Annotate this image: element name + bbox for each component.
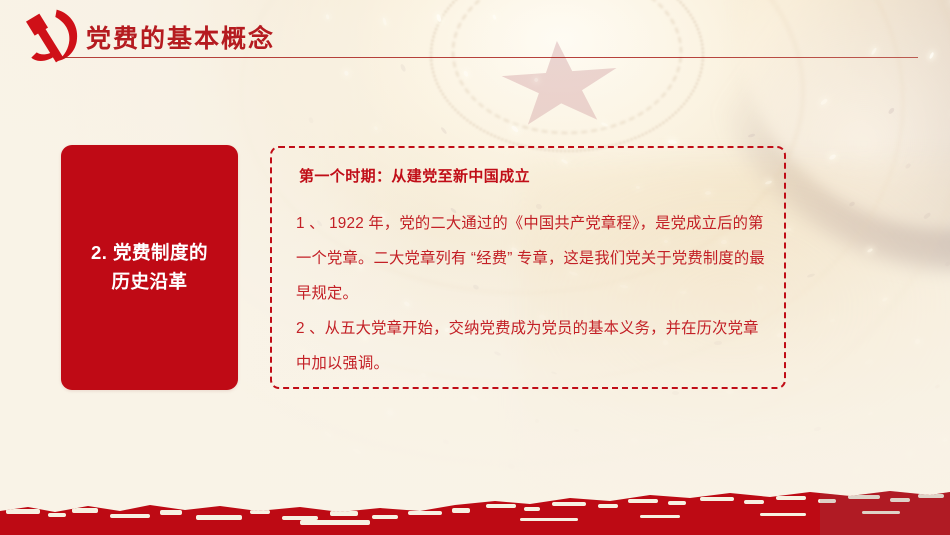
- content-paragraph-2: 2 、从五大党章开始，交纳党费成为党员的基本义务，并在历次党章中加以强调。: [296, 311, 768, 381]
- content-paragraph-1: 1 、 1922 年，党的二大通过的《中国共产党章程》，是党成立后的第一个党章。…: [296, 206, 768, 311]
- page-title: 党费的基本概念: [86, 19, 275, 55]
- red-brush-strip: [0, 471, 950, 535]
- content-heading: 第一个时期：从建党至新中国成立: [299, 165, 530, 186]
- content-body: 1 、 1922 年，党的二大通过的《中国共产党章程》，是党成立后的第一个党章。…: [296, 206, 768, 381]
- section-number-label: 2. 党费制度的 历史沿革: [83, 239, 216, 296]
- header-divider: [62, 57, 918, 58]
- section-number-card[interactable]: 2. 党费制度的 历史沿革: [61, 145, 238, 390]
- hammer-and-sickle-emblem: [16, 7, 84, 63]
- slide-root: 党费的基本概念 2. 党费制度的 历史沿革 第一个时期：从建党至新中国成立 1 …: [0, 0, 950, 535]
